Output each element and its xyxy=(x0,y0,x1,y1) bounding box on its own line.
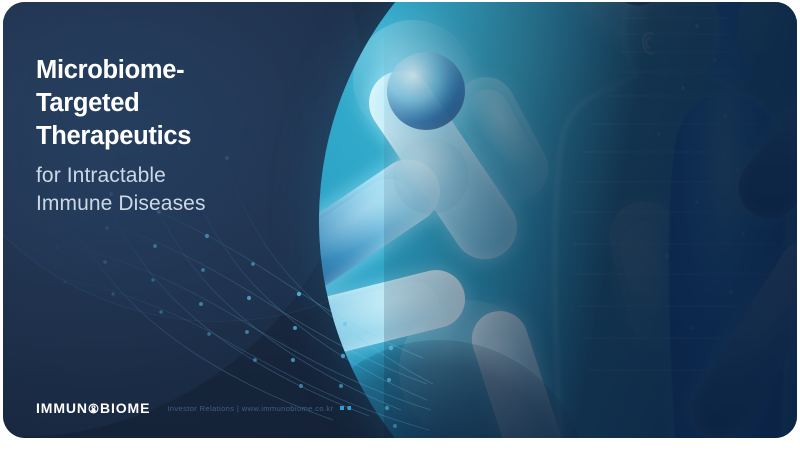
company-logo[interactable]: IMMUN BIOME xyxy=(36,400,150,416)
slide-title: Microbiome- Targeted Therapeutics xyxy=(36,54,366,153)
footer-meta-text[interactable]: Investor Relations | www.immunobiome.co.… xyxy=(167,404,333,413)
immunobiome-o-mark-icon xyxy=(88,403,99,414)
logo-text-part-1: IMMUN xyxy=(36,400,88,416)
logo-text-part-2: BIOME xyxy=(100,400,150,416)
right-edge-shade xyxy=(384,2,797,438)
logo-text: IMMUN BIOME xyxy=(36,400,150,416)
title-line-2: Targeted xyxy=(36,87,366,120)
title-line-3: Therapeutics xyxy=(36,120,366,153)
accent-dot xyxy=(340,406,343,409)
accent-dot xyxy=(348,406,351,409)
slide-title-block: Microbiome- Targeted Therapeutics for In… xyxy=(36,54,366,218)
footer-accent-dots xyxy=(340,406,350,409)
footer-meta: Investor Relations | www.immunobiome.co.… xyxy=(167,404,350,413)
subtitle-line-1: for Intractable xyxy=(36,162,366,190)
presentation-slide: Microbiome- Targeted Therapeutics for In… xyxy=(3,2,797,438)
subtitle-line-2: Immune Diseases xyxy=(36,190,366,218)
slide-footer: IMMUN BIOME Investor Relations | www.imm… xyxy=(36,400,351,416)
title-line-1: Microbiome- xyxy=(36,54,366,87)
slide-subtitle: for Intractable Immune Diseases xyxy=(36,162,366,217)
